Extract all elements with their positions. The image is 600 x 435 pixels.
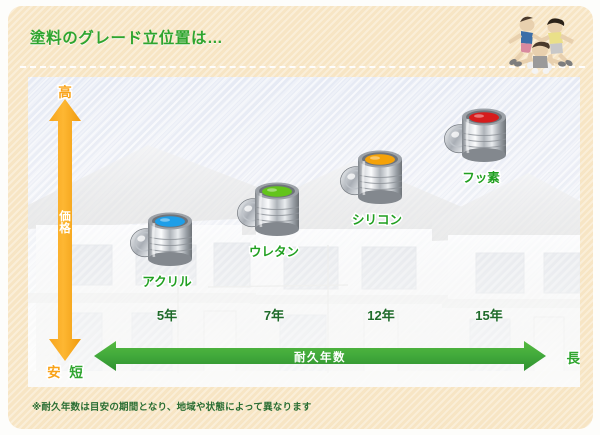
durability-axis-text: 耐久年数 (94, 349, 546, 365)
grade-item-silicon: シリコン (334, 139, 420, 213)
axis-label-cheap: 安 (47, 365, 61, 380)
family-holding-hands-clipart (491, 12, 587, 74)
page-title: 塗料のグレード立位置は… (30, 26, 223, 48)
years-label-silicon: 12年 (338, 305, 424, 324)
grade-item-urethane: ウレタン (231, 171, 317, 245)
paint-surface (155, 216, 185, 227)
grade-label-fluorine: フッ素 (438, 167, 524, 186)
paint-can-acrylic-icon (124, 201, 210, 275)
axis-label-short: 短 (69, 365, 83, 380)
paint-surface (262, 186, 292, 197)
illustration-stage: 高 価 格 安 短 (28, 77, 580, 387)
durability-axis: 耐久年数 長 (94, 335, 580, 379)
footnote-text: ※耐久年数は目安の期間となり、地域や状態によって異なります (32, 399, 312, 413)
paint-can-urethane-icon (231, 171, 317, 245)
axis-label-high: 高 (36, 81, 94, 101)
years-label-fluorine: 15年 (446, 305, 532, 324)
paint-surface (365, 154, 395, 165)
grade-label-urethane: ウレタン (231, 241, 317, 260)
price-axis: 高 価 格 安 短 (36, 81, 94, 381)
axis-label-long: 長 (567, 347, 581, 367)
years-label-urethane: 7年 (231, 305, 317, 324)
price-axis-char-1: 価 (36, 211, 94, 223)
paint-can-silicon-icon (334, 139, 420, 213)
info-card-panel: 塗料のグレード立位置は… (8, 6, 593, 429)
price-axis-text: 価 格 (36, 211, 94, 236)
paint-can-fluorine-icon (438, 97, 524, 171)
paint-surface (469, 112, 499, 123)
price-axis-char-2: 格 (36, 223, 94, 235)
grade-label-silicon: シリコン (334, 209, 420, 228)
axis-label-cheap-short: 安 短 (36, 361, 94, 381)
grade-label-acrylic: アクリル (124, 271, 210, 290)
years-label-acrylic: 5年 (124, 305, 210, 324)
grade-item-acrylic: アクリル (124, 201, 210, 275)
grade-item-fluorine: フッ素 (438, 97, 524, 171)
